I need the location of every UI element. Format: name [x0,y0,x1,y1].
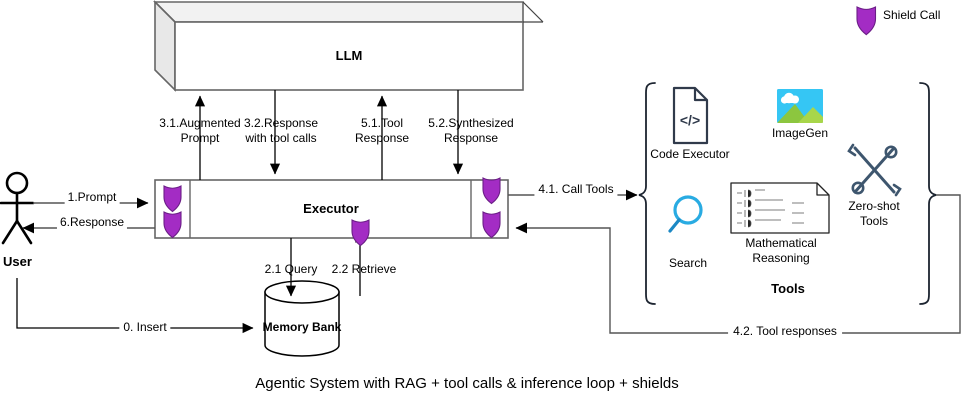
svg-text:</>: </> [680,112,700,128]
edge-label-response-tool-calls-line2: with tool calls [245,131,316,146]
shield-icon-legend [857,7,876,35]
edge-label-prompt: 1.Prompt [65,190,120,205]
diagram-canvas: </> [0,0,970,411]
llm-node [155,2,543,90]
tool-label-search: Search [669,256,707,271]
user-actor-icon [1,173,33,243]
user-label: User [3,254,32,270]
edge-label-retrieve: 2.2 Retrieve [332,262,397,277]
edge-label-response: 6.Response [57,215,127,230]
tools-group-label: Tools [771,281,805,297]
tool-label-math-line2: Reasoning [752,251,809,266]
tools-left-brace [639,83,655,304]
edge-label-tool-response-line1: 5.1.Tool [361,116,403,131]
edge-label-response-tool-calls-line1: 3.2.Response [244,116,318,131]
tool-label-zeroshot-line1: Zero-shot [848,199,899,214]
edge-label-tool-response-line2: Response [355,131,409,146]
edge-label-tool-responses: 4.2. Tool responses [728,324,842,339]
edge-label-query: 2.1 Query [265,262,318,277]
diagram-caption: Agentic System with RAG + tool calls & i… [255,375,679,393]
memory-bank-node [265,281,339,356]
executor-label: Executor [303,201,359,217]
memory-bank-label: Memory Bank [263,320,342,335]
code-document-icon: </> [674,88,707,143]
math-document-icon [731,183,829,233]
magnifier-icon [670,197,701,231]
diagram-vector-layer: </> [0,0,970,411]
crossed-wrenches-icon [849,145,900,195]
edge-label-synthesized-response-line2: Response [444,131,498,146]
tool-label-imagegen: ImageGen [772,126,828,141]
edge-label-synthesized-response-line1: 5.2.Synthesized [428,116,513,131]
edge-label-call-tools: 4.1. Call Tools [534,182,617,197]
tool-label-math-line1: Mathematical [745,236,816,251]
edge-label-insert: 0. Insert [119,320,170,335]
image-picture-icon [777,89,829,123]
llm-label: LLM [336,48,363,64]
tool-label-zeroshot-line2: Tools [860,214,888,229]
legend-shield-label: Shield Call [883,8,940,23]
edge-label-augmented-prompt-line1: 3.1.Augmented [159,116,240,131]
edge-label-augmented-prompt-line2: Prompt [181,131,220,146]
shield-icon-memory-retrieve [352,220,369,246]
tools-right-brace [920,83,936,304]
tool-label-code-executor: Code Executor [650,147,729,162]
